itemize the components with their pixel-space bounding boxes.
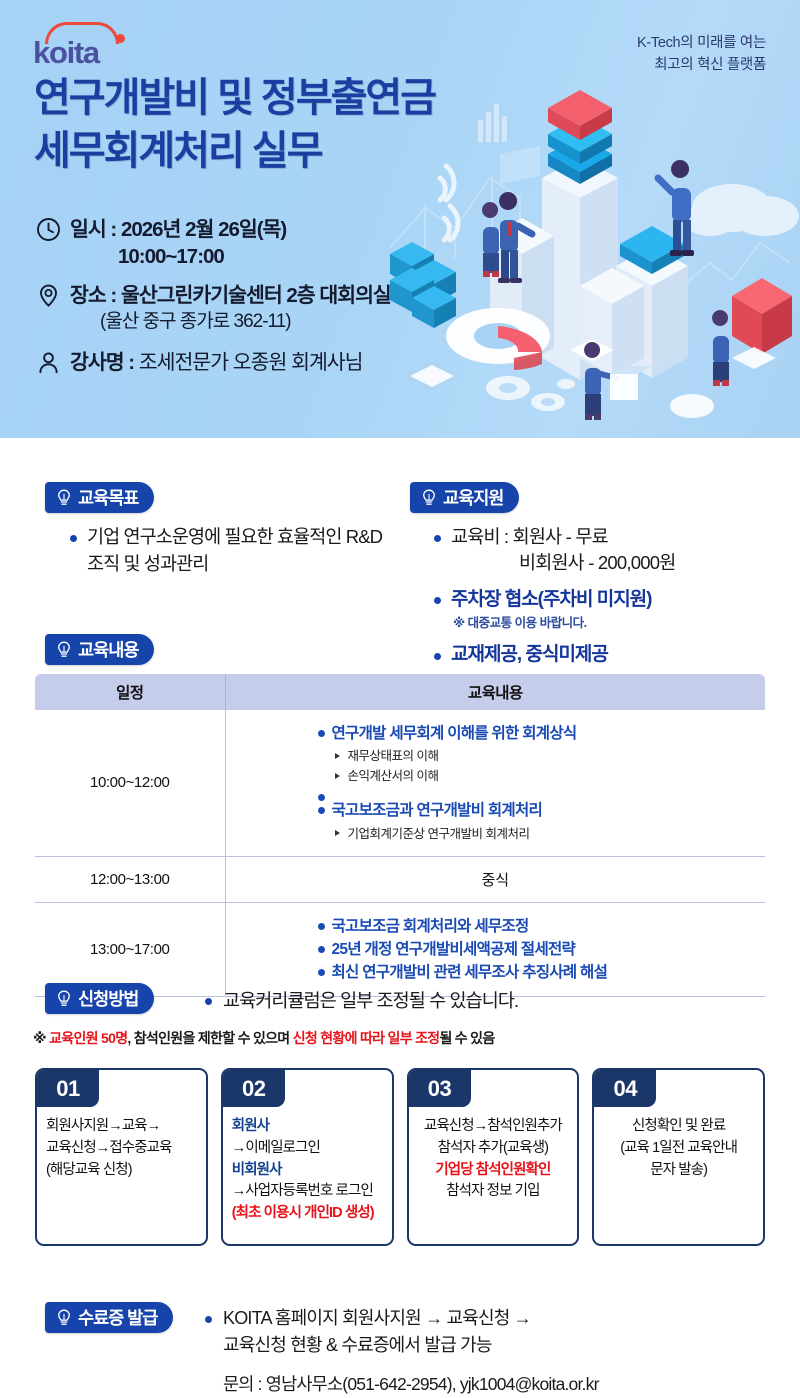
content-item-main: 국고보조금과 연구개발비 회계처리 [332, 802, 543, 819]
section-content-badge: 교육내용 [45, 634, 154, 665]
lightbulb-icon [56, 641, 72, 659]
person-icon [36, 350, 61, 375]
meta-date-text: 일시 : 2026년 2월 26일(목) 10:00~17:00 [70, 216, 286, 271]
title-line-2: 세무회계처리 실무 [34, 125, 435, 178]
content-sub-item: 손익계산서의 이해 [332, 766, 766, 786]
meta-lecturer-label: 강사명 : [70, 351, 134, 374]
badge-content-label: 교육내용 [78, 637, 138, 662]
meta-row-lecturer: 강사명 : 조세전문가 오종원 회계사님 [36, 349, 391, 376]
apply-curriculum-note: 교육커리큘럼은 일부 조정될 수 있습니다. [205, 987, 518, 1013]
koita-dot-icon [116, 34, 125, 43]
row-content: 연구개발 세무회계 이해를 위한 회계상식 재무상태표의 이해 손익계산서의 이… [225, 710, 765, 856]
section-goal-badge: 교육목표 [45, 482, 154, 513]
step-line: (교육 1일전 교육안내 [603, 1138, 754, 1160]
meta-row-location: 장소 : 울산그린카기술센터 2층 대회의실 (울산 중구 종가로 362-11… [36, 282, 391, 335]
content-sub-list: 기업회계기준상 연구개발비 회계처리 [332, 824, 766, 844]
support-materials-item: 교재제공, 중식미제공 [432, 641, 792, 669]
curriculum-table: 일정 교육내용 10:00~12:00 연구개발 세무회계 이해를 위한 회계상… [35, 674, 765, 997]
content-item-list: 연구개발 세무회계 이해를 위한 회계상식 재무상태표의 이해 손익계산서의 이… [318, 722, 766, 844]
meta-location-value: 울산그린카기술센터 2층 대회의실 [121, 284, 391, 307]
location-pin-icon [36, 283, 61, 308]
meta-date-label: 일시 : [70, 218, 116, 241]
content-item: 연구개발 세무회계 이해를 위한 회계상식 재무상태표의 이해 손익계산서의 이… [318, 722, 766, 786]
content-item: 국고보조금과 연구개발비 회계처리 기업회계기준상 연구개발비 회계처리 [318, 799, 766, 843]
content-spacer [318, 786, 766, 799]
row-time: 12:00~13:00 [35, 856, 225, 902]
step-line-alert: 기업당 참석인원확인 [418, 1160, 569, 1182]
step-line-alert: (최초 이용시 개인ID 생성) [232, 1203, 383, 1225]
poster-root: koita K-Tech의 미래를 여는 최고의 혁신 플랫폼 연구개발비 및 … [0, 0, 800, 1398]
table-header-row: 일정 교육내용 [35, 674, 765, 710]
warning-highlight-2: 신청 현황에 따라 일부 조정 [293, 1030, 440, 1046]
goal-item-list: 기업 연구소운영에 필요한 효율적인 R&D 조직 및 성과관리 [68, 524, 398, 578]
event-meta-list: 일시 : 2026년 2월 26일(목) 10:00~17:00 장소 : 울산… [36, 216, 391, 387]
content-sub-item: 재무상태표의 이해 [332, 746, 766, 766]
support-fee-nonmember: 비회원사 - 200,000원 [451, 550, 792, 576]
curriculum-table-body: 10:00~12:00 연구개발 세무회계 이해를 위한 회계상식 재무상태표의… [35, 710, 765, 997]
support-materials-text: 교재제공, 중식미제공 [451, 644, 608, 665]
cert-info: KOITA 홈페이지 회원사지원 → 교육신청 → 교육신청 현황 & 수료증에… [205, 1305, 785, 1397]
badge-cert: 수료증 발급 [45, 1302, 173, 1333]
tagline-line-1: K-Tech의 미래를 여는 [637, 32, 766, 54]
cert-line-2: 교육신청 현황 & 수료증에서 발급 가능 [205, 1332, 785, 1359]
cert-line-1: KOITA 홈페이지 회원사지원 → 교육신청 → [205, 1305, 785, 1332]
step-line: 문자 발송) [603, 1160, 754, 1182]
step-number: 01 [37, 1070, 99, 1107]
warning-highlight-1: 교육인원 50명 [49, 1030, 127, 1046]
meta-lecturer-value: 조세전문가 오종원 회계사님 [139, 351, 363, 374]
support-parking-item: 주차장 협소(주차비 미지원) ※ 대중교통 이용 바랍니다. [432, 586, 792, 633]
step-body: 회원사 →이메일로그인 비회원사 →사업자등록번호 로그인 (최초 이용시 개인… [223, 1116, 392, 1225]
badge-content: 교육내용 [45, 634, 154, 665]
step-number: 03 [409, 1070, 471, 1107]
content-item: 국고보조금 회계처리와 세무조정 [318, 915, 766, 938]
clock-icon [36, 217, 61, 242]
step-line: (해당교육 신청) [46, 1160, 197, 1182]
support-fee-member: 교육비 : 회원사 - 무료 [451, 526, 608, 547]
badge-support-label: 교육지원 [443, 485, 503, 510]
content-item-main: 연구개발 세무회계 이해를 위한 회계상식 [332, 725, 577, 742]
step-card-04: 04 신청확인 및 완료 (교육 1일전 교육안내 문자 발송) [592, 1068, 765, 1246]
step-line: →이메일로그인 [232, 1138, 383, 1160]
step-line: 회원사지원→교육→ [46, 1116, 197, 1138]
step-card-01: 01 회원사지원→교육→ 교육신청→접수중교육 (해당교육 신청) [35, 1068, 208, 1246]
koita-logo-text: koita [33, 35, 99, 71]
row-content: 중식 [225, 856, 765, 902]
koita-logo: koita [33, 20, 133, 66]
row-time: 10:00~12:00 [35, 710, 225, 856]
title-line-1: 연구개발비 및 정부출연금 [34, 72, 435, 125]
badge-support: 교육지원 [410, 482, 519, 513]
warning-suffix: 될 수 있음 [439, 1030, 494, 1046]
step-body: 회원사지원→교육→ 교육신청→접수중교육 (해당교육 신청) [37, 1116, 206, 1181]
lightbulb-icon [56, 990, 72, 1008]
badge-apply-label: 신청방법 [78, 986, 138, 1011]
poster-header: koita K-Tech의 미래를 여는 최고의 혁신 플랫폼 연구개발비 및 … [0, 0, 800, 438]
content-item-list: 국고보조금 회계처리와 세무조정 25년 개정 연구개발비세액공제 절세전략 최… [318, 915, 766, 985]
application-steps: 01 회원사지원→교육→ 교육신청→접수중교육 (해당교육 신청) 02 회원사… [35, 1068, 765, 1246]
step-card-03: 03 교육신청→참석인원추가 참석자 추가(교육생) 기업당 참석인원확인 참석… [407, 1068, 580, 1246]
step-card-02: 02 회원사 →이메일로그인 비회원사 →사업자등록번호 로그인 (최초 이용시… [221, 1068, 394, 1246]
table-row: 10:00~12:00 연구개발 세무회계 이해를 위한 회계상식 재무상태표의… [35, 710, 765, 856]
person-right-bottom [712, 310, 729, 386]
table-row: 12:00~13:00 중식 [35, 856, 765, 902]
section-support-badge: 교육지원 [410, 482, 519, 513]
column-header-content: 교육내용 [225, 674, 765, 710]
step-line: 참석자 추가(교육생) [418, 1138, 569, 1160]
support-item-list: 교육비 : 회원사 - 무료 비회원사 - 200,000원 주차장 협소(주차… [432, 524, 792, 678]
step-body: 교육신청→참석인원추가 참석자 추가(교육생) 기업당 참석인원확인 참석자 정… [409, 1116, 578, 1203]
step-body: 신청확인 및 완료 (교육 1일전 교육안내 문자 발송) [594, 1116, 763, 1181]
lightbulb-icon [56, 1309, 72, 1327]
meta-row-date: 일시 : 2026년 2월 26일(목) 10:00~17:00 [36, 216, 391, 271]
row-content: 국고보조금 회계처리와 세무조정 25년 개정 연구개발비세액공제 절세전략 최… [225, 902, 765, 997]
step-line-heading: 회원사 [232, 1116, 383, 1138]
badge-goal-label: 교육목표 [78, 485, 138, 510]
lightbulb-icon [421, 489, 437, 507]
step-line: 교육신청→접수중교육 [46, 1138, 197, 1160]
meta-location-address: (울산 중구 종가로 362-11) [70, 309, 391, 334]
step-number: 04 [594, 1070, 656, 1107]
meta-date-time: 10:00~17:00 [70, 243, 286, 270]
cert-contact: 문의 : 영남사무소(051-642-2954), yjk1004@koita.… [205, 1371, 785, 1398]
goal-item: 기업 연구소운영에 필요한 효율적인 R&D 조직 및 성과관리 [68, 524, 398, 578]
step-number: 02 [223, 1070, 285, 1107]
section-apply-badge: 신청방법 [45, 983, 154, 1014]
content-item: 25년 개정 연구개발비세액공제 절세전략 [318, 938, 766, 961]
support-fee-item: 교육비 : 회원사 - 무료 비회원사 - 200,000원 [432, 524, 792, 577]
badge-goal: 교육목표 [45, 482, 154, 513]
support-parking-note: ※ 대중교통 이용 바랍니다. [451, 615, 792, 633]
step-line: →사업자등록번호 로그인 [232, 1181, 383, 1203]
section-cert-badge: 수료증 발급 [45, 1302, 173, 1333]
step-line-heading: 비회원사 [232, 1160, 383, 1182]
step-line: 신청확인 및 완료 [603, 1116, 754, 1138]
meta-lecturer-text: 강사명 : 조세전문가 오종원 회계사님 [70, 349, 363, 376]
badge-cert-label: 수료증 발급 [78, 1305, 157, 1330]
warning-prefix: ※ [33, 1030, 49, 1046]
lightbulb-icon [56, 489, 72, 507]
meta-location-label: 장소 : [70, 284, 116, 307]
apply-warning-text: ※ 교육인원 50명, 참석인원을 제한할 수 있으며 신청 현황에 따라 일부… [33, 1028, 495, 1048]
column-header-schedule: 일정 [35, 674, 225, 710]
page-title: 연구개발비 및 정부출연금 세무회계처리 실무 [34, 72, 435, 178]
content-sub-item: 기업회계기준상 연구개발비 회계처리 [332, 824, 766, 844]
badge-apply: 신청방법 [45, 983, 154, 1014]
meta-location-text: 장소 : 울산그린카기술센터 2층 대회의실 (울산 중구 종가로 362-11… [70, 282, 391, 335]
step-line: 참석자 정보 기입 [418, 1181, 569, 1203]
meta-date-value: 2026년 2월 26일(목) [121, 218, 286, 241]
step-line: 교육신청→참석인원추가 [418, 1116, 569, 1138]
content-sub-list: 재무상태표의 이해 손익계산서의 이해 [332, 746, 766, 786]
warning-middle: , 참석인원을 제한할 수 있으며 [127, 1030, 292, 1046]
content-item: 최신 연구개발비 관련 세무조사 추징사례 해설 [318, 961, 766, 984]
curriculum-table-head: 일정 교육내용 [35, 674, 765, 710]
isometric-business-illustration [380, 58, 800, 438]
support-parking-text: 주차장 협소(주차비 미지원) [451, 589, 652, 610]
